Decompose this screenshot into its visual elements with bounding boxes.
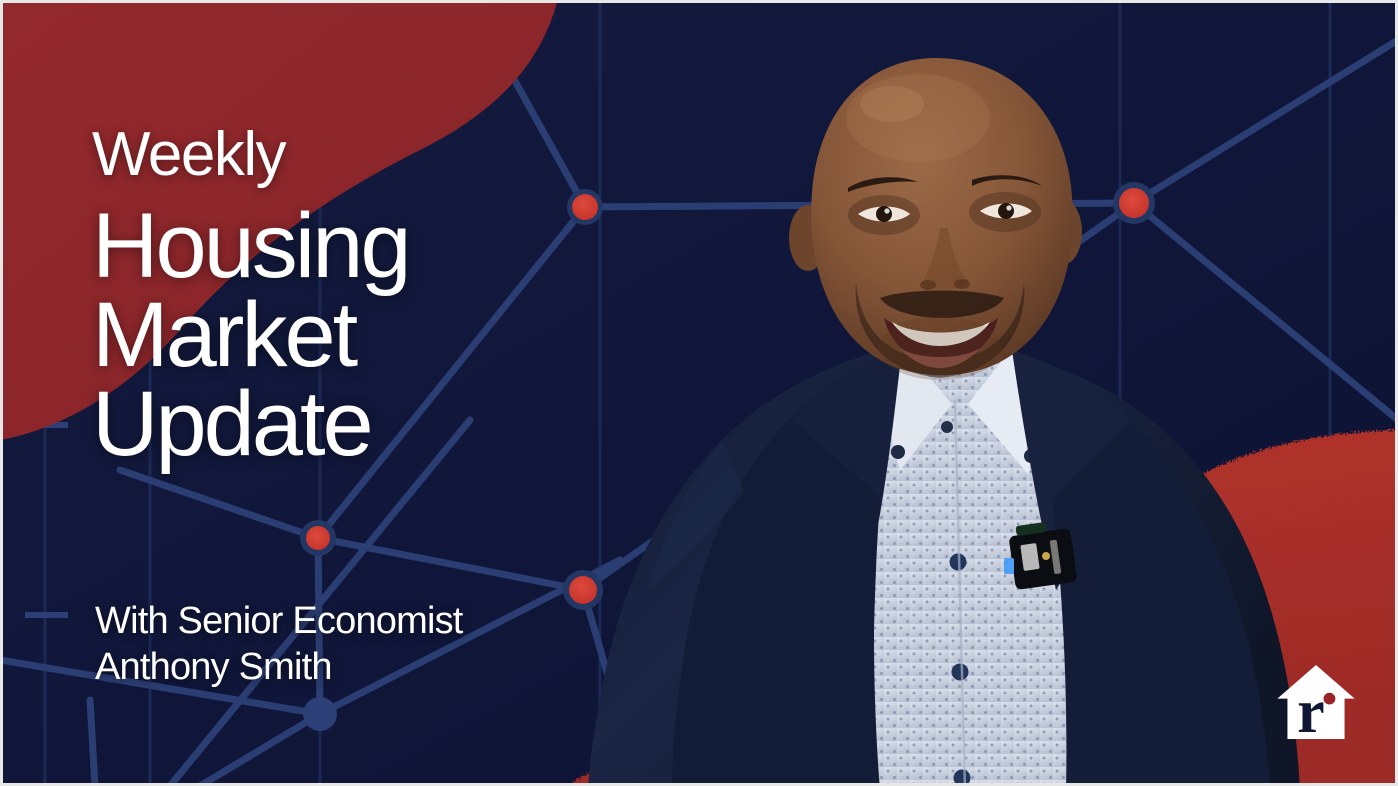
title-line-3: Update (92, 380, 652, 469)
subtitle-block: With Senior Economist Anthony Smith (95, 598, 655, 691)
title-line-1: Housing (92, 202, 652, 291)
shirt-button (954, 770, 971, 786)
subtitle-line-1: With Senior Economist (95, 598, 655, 644)
collar-button (941, 421, 953, 433)
subtitle-line-2: Anthony Smith (95, 644, 655, 690)
title-line-2: Market (92, 291, 652, 380)
title-kicker: Weekly (92, 124, 652, 186)
collar-button (891, 445, 905, 459)
logo-letter: r (1297, 678, 1325, 744)
realtor-logo: r (1274, 660, 1358, 744)
realtor-house-logo-icon: r (1274, 660, 1358, 744)
title-block: Weekly Housing Market Update (92, 124, 652, 470)
shirt-button (952, 664, 969, 681)
video-thumbnail: Weekly Housing Market Update With Senior… (0, 0, 1398, 786)
logo-dot (1324, 693, 1336, 705)
presenter-head (789, 58, 1082, 380)
